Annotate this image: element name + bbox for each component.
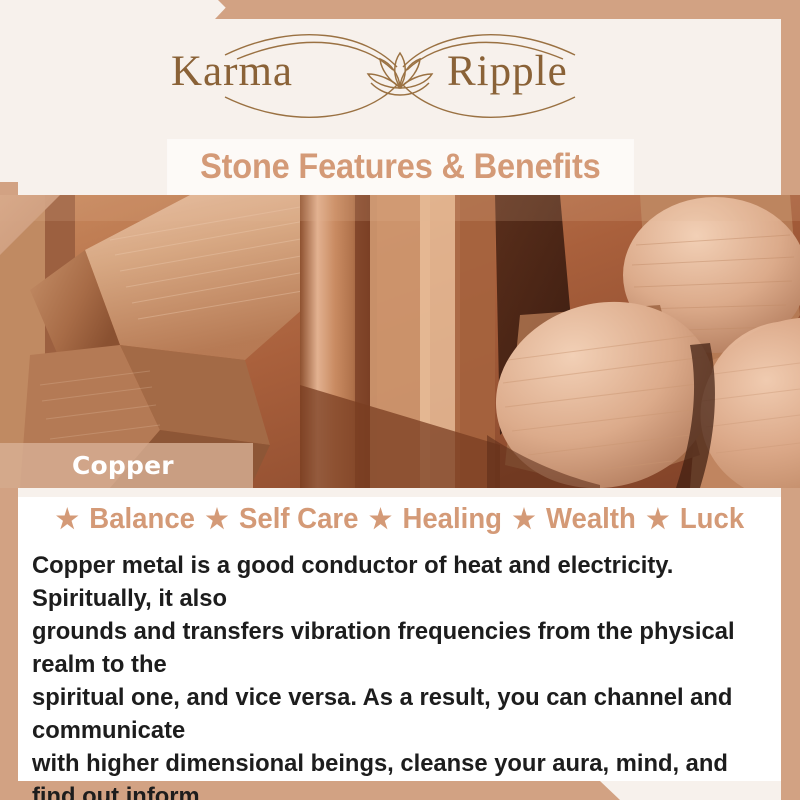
star-icon-5: ★ xyxy=(646,504,669,534)
feature-self-care: Self Care xyxy=(239,503,358,535)
photo-caption-text: Copper xyxy=(72,451,174,480)
star-icon-4: ★ xyxy=(512,504,535,534)
star-icon-2: ★ xyxy=(205,504,228,534)
description-line: with higher dimensional beings, cleanse … xyxy=(32,747,755,800)
feature-wealth: Wealth xyxy=(546,503,636,535)
frame-border-top xyxy=(215,0,800,19)
feature-list: ★ Balance ★ Self Care ★ Healing ★ Wealth… xyxy=(37,503,762,536)
feature-healing: Healing xyxy=(402,503,502,535)
feature-balance: Balance xyxy=(89,503,195,535)
brand-name-right: Ripple xyxy=(447,48,568,95)
lotus-icon xyxy=(368,53,432,95)
feature-luck: Luck xyxy=(680,503,744,535)
title-banner: Stone Features & Benefits xyxy=(168,140,633,194)
page-title: Stone Features & Benefits xyxy=(200,147,601,187)
divider-strip xyxy=(18,488,781,497)
star-icon-1: ★ xyxy=(56,504,79,534)
brand-logo: Karma Ripple xyxy=(0,22,800,127)
brand-name-left: Karma xyxy=(171,48,293,95)
poster-canvas: Karma Ripple Stone Features & Benefits xyxy=(0,0,800,800)
photo-caption-bar: Copper xyxy=(0,443,253,488)
description-line: Copper metal is a good conductor of heat… xyxy=(32,549,755,615)
star-icon-3: ★ xyxy=(369,504,392,534)
description-line: spiritual one, and vice versa. As a resu… xyxy=(32,681,755,747)
description-text: Copper metal is a good conductor of heat… xyxy=(32,549,755,800)
brand-logo-graphic: Karma Ripple xyxy=(165,25,635,125)
product-photo: Copper xyxy=(0,195,800,488)
description-line: grounds and transfers vibration frequenc… xyxy=(32,615,755,681)
content-panel: ★ Balance ★ Self Care ★ Healing ★ Wealth… xyxy=(18,497,781,781)
